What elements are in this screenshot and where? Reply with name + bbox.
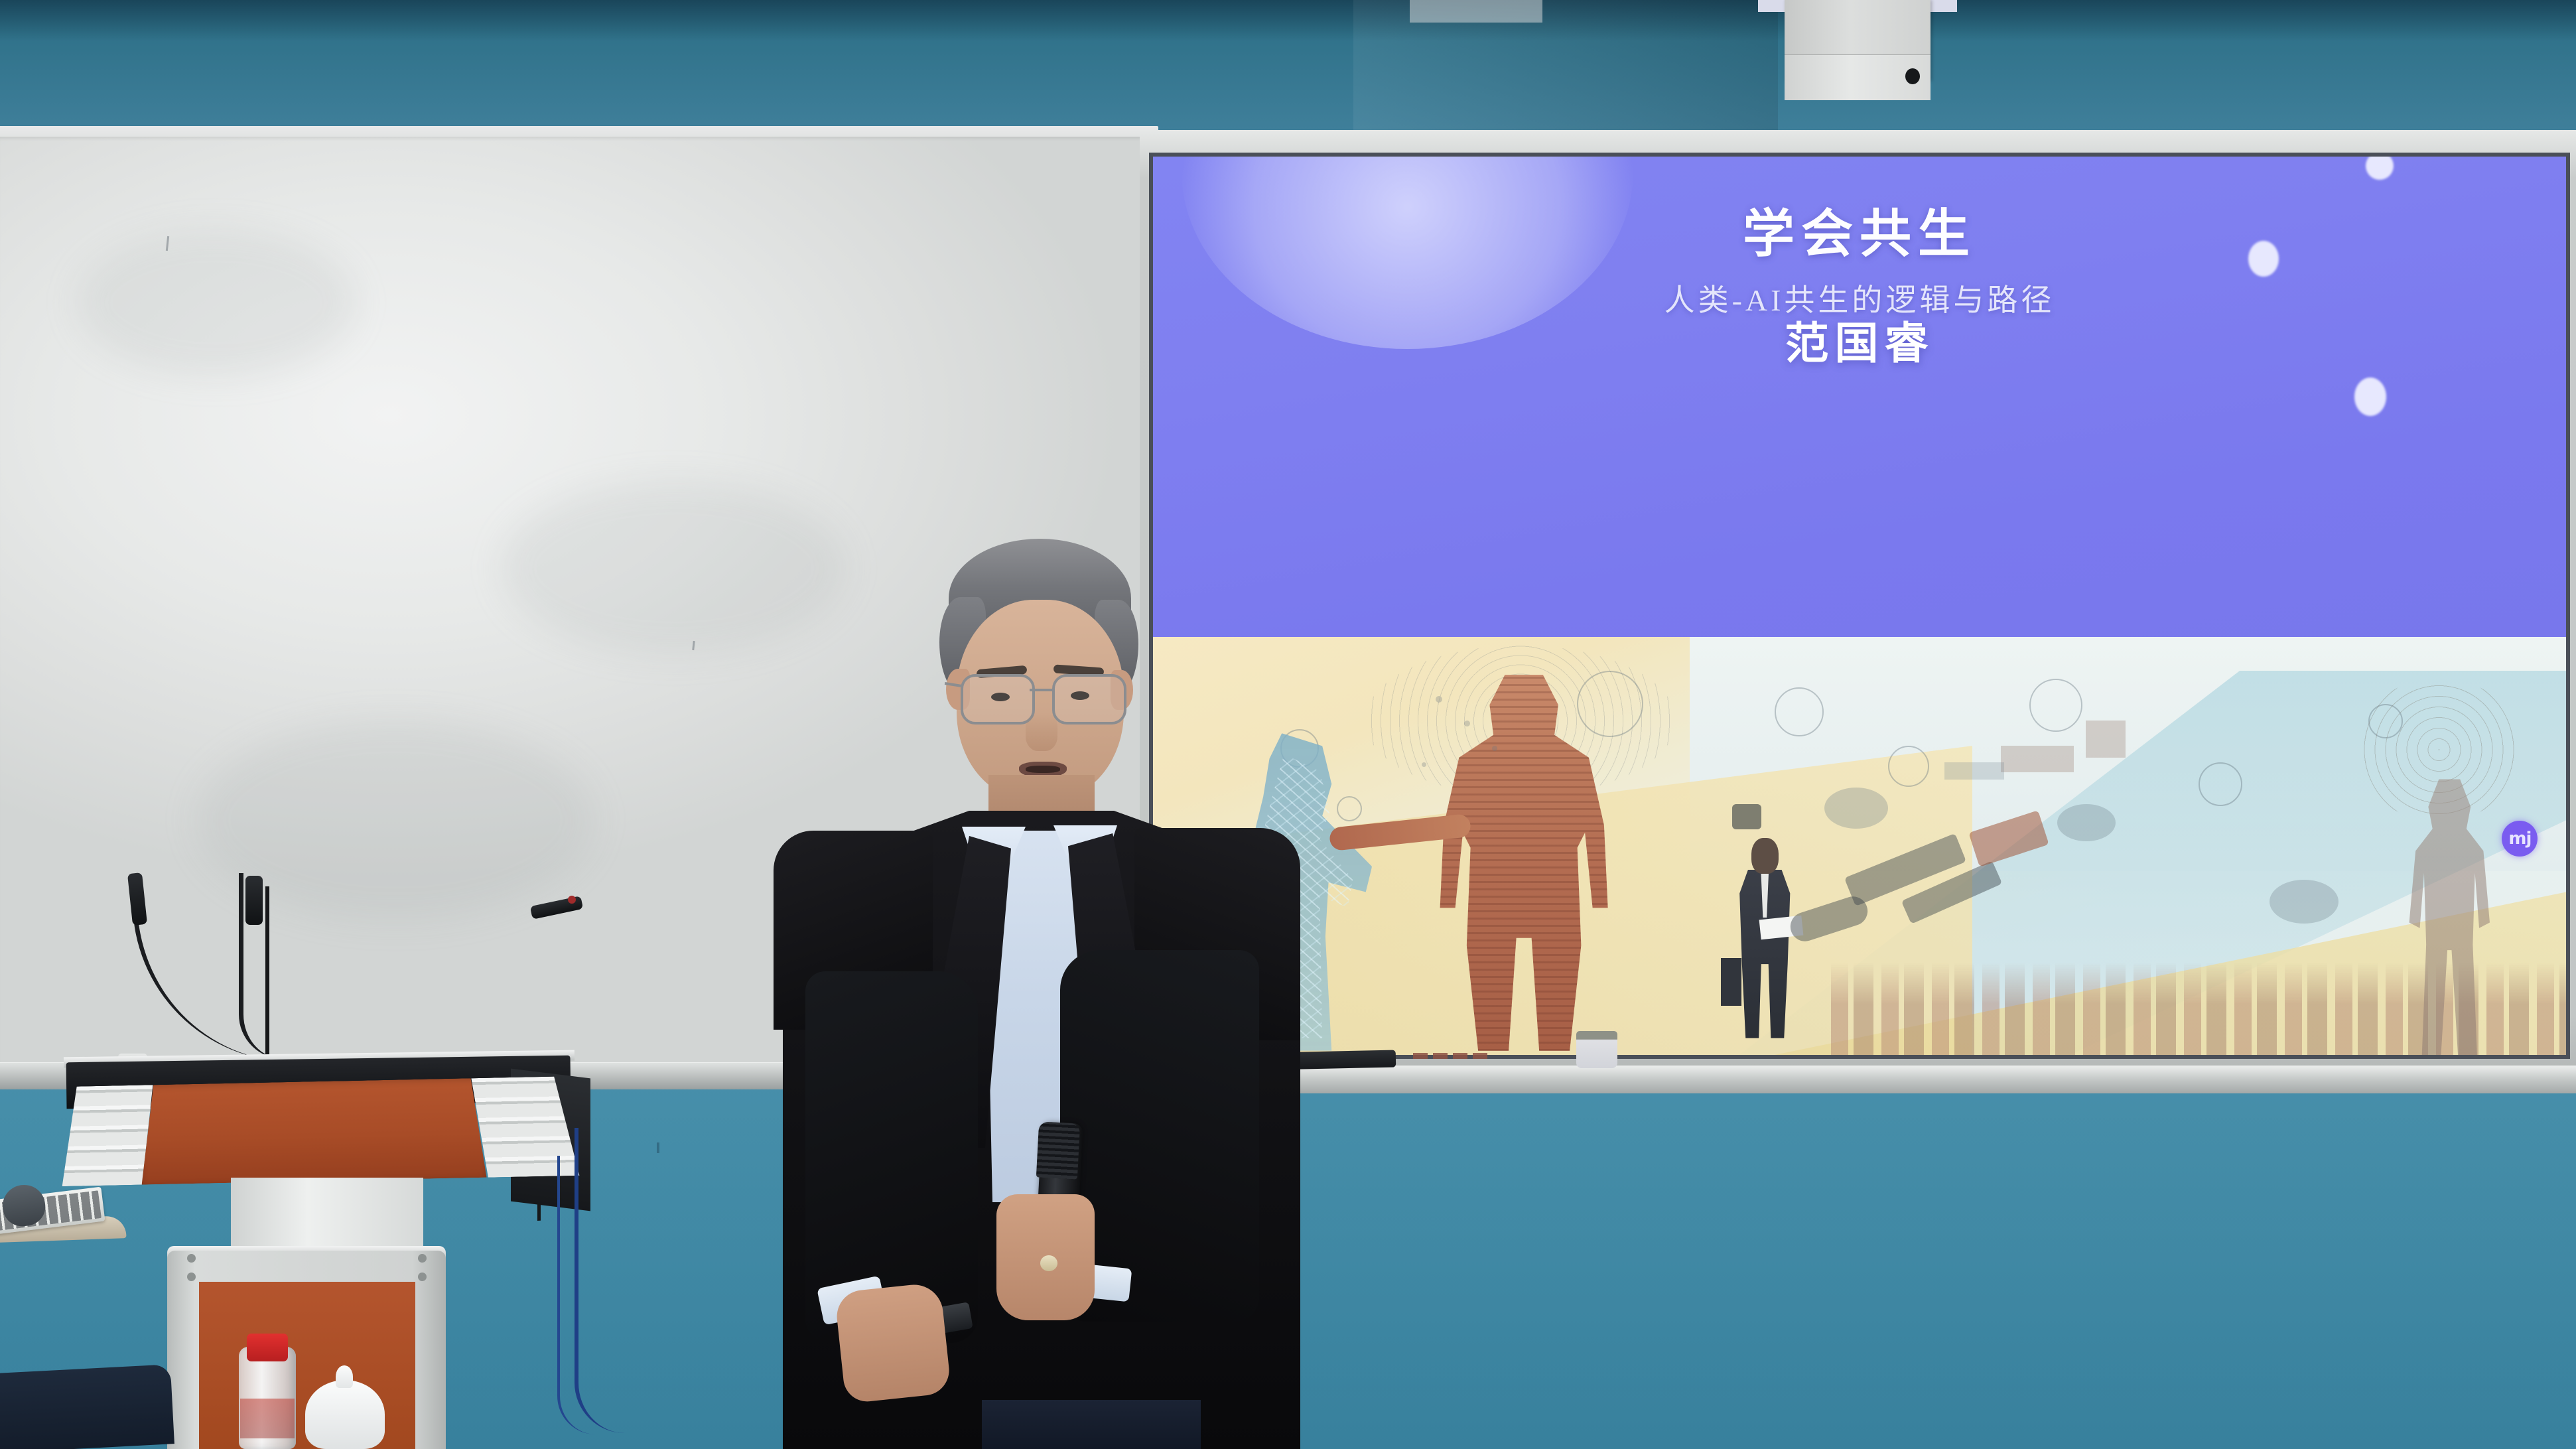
microphone-tip-indicator (568, 896, 576, 904)
tray-label-strip (1413, 1053, 1493, 1059)
projection-screen: 学会共生 人类-AI共生的逻辑与路径 范国睿 (1140, 130, 2576, 1093)
eraser-cup (1576, 1031, 1617, 1068)
presenter (763, 539, 1307, 1449)
eyeglass-bridge (1030, 689, 1053, 691)
teapot (305, 1380, 385, 1449)
slide-author: 范国睿 (1153, 308, 2566, 372)
water-bottle-label (240, 1399, 295, 1438)
projector-mount-hole (1905, 68, 1920, 84)
slide-dot (2354, 378, 2386, 416)
wall-mark (657, 1142, 659, 1153)
power-cable-2 (557, 1156, 596, 1434)
ceiling-bracket (1410, 0, 1542, 23)
lectern-aluminum-left (60, 1085, 155, 1186)
slide-top-panel: 学会共生 人类-AI共生的逻辑与路径 范国睿 (1153, 157, 2566, 637)
slide-heading-group: 学会共生 人类-AI共生的逻辑与路径 (1153, 192, 2566, 320)
presenter-nose (1026, 713, 1057, 751)
eyeglass-lens-left (961, 674, 1035, 724)
presenter-mouth-open (1026, 766, 1060, 773)
wedding-ring (1040, 1255, 1057, 1271)
slide-illustration: mj (1153, 637, 2566, 1055)
slide: 学会共生 人类-AI共生的逻辑与路径 范国睿 (1153, 157, 2566, 1055)
chair (0, 1364, 174, 1449)
slide-title: 学会共生 (1153, 192, 2566, 267)
teapot-lid-knob (336, 1365, 353, 1388)
presenter-trousers (982, 1400, 1201, 1449)
wall-top-shadow (0, 0, 2576, 41)
watermark-label: mj (2508, 829, 2531, 849)
microphone-grille (1036, 1121, 1080, 1179)
lectern-front-face (60, 1076, 580, 1186)
microphone-head-center (245, 876, 263, 925)
eyeglass-lens-right (1052, 674, 1126, 724)
presenter-hand-left (835, 1282, 952, 1404)
businessman-figure (1726, 838, 1804, 1038)
water-bottle-cap (247, 1334, 288, 1361)
lectern-wood-panel (139, 1078, 486, 1185)
screen-pen-tray (1140, 1066, 2576, 1093)
slide-dot (2366, 157, 2394, 180)
lecture-hall-scene: 学会共生 人类-AI共生的逻辑与路径 范国睿 (0, 0, 2576, 1449)
